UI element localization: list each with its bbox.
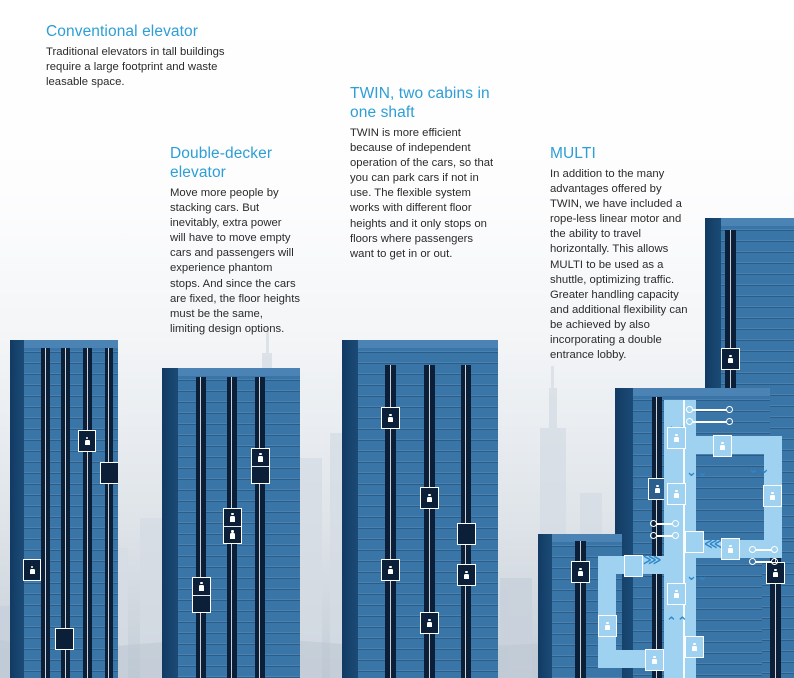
passenger-icon bbox=[770, 492, 775, 501]
multi-cabin-occupied[interactable] bbox=[667, 427, 686, 449]
passenger-icon bbox=[605, 622, 610, 631]
multi-cabin-occupied[interactable] bbox=[685, 636, 704, 658]
passenger-icon bbox=[674, 590, 679, 599]
transfer-node[interactable] bbox=[672, 520, 679, 527]
node-link bbox=[692, 409, 727, 411]
multi-cabin-empty[interactable] bbox=[624, 555, 643, 577]
chevron-down-icon: ⌄⌄ bbox=[748, 465, 770, 475]
transfer-node[interactable] bbox=[726, 418, 733, 425]
infographic-canvas: Conventional elevator Traditional elevat… bbox=[0, 0, 794, 678]
chevron-down-icon: ⌄⌄ bbox=[686, 572, 708, 582]
passenger-icon bbox=[652, 656, 657, 665]
passenger-icon bbox=[674, 490, 679, 499]
multi-cabin-occupied[interactable] bbox=[645, 649, 664, 671]
transfer-node[interactable] bbox=[771, 558, 778, 565]
multi-cabin-occupied[interactable] bbox=[598, 615, 617, 637]
chevron-up-icon: ⌃⌃ bbox=[666, 618, 688, 628]
passenger-icon bbox=[674, 434, 679, 443]
chevron-right-icon: ⋙ bbox=[643, 556, 662, 566]
node-link bbox=[656, 523, 673, 525]
passenger-icon bbox=[728, 545, 733, 554]
multi-cabin-occupied[interactable] bbox=[721, 538, 740, 560]
multi-cabin-occupied[interactable] bbox=[713, 435, 732, 457]
transfer-node[interactable] bbox=[672, 532, 679, 539]
node-link bbox=[755, 549, 772, 551]
passenger-icon bbox=[692, 643, 697, 652]
multi-cabin-occupied[interactable] bbox=[667, 583, 686, 605]
node-link bbox=[656, 535, 673, 537]
multi-cabin-occupied[interactable] bbox=[763, 485, 782, 507]
chevron-down-icon: ⌄⌄ bbox=[686, 468, 708, 478]
node-link bbox=[755, 561, 772, 563]
passenger-icon bbox=[720, 442, 725, 451]
transfer-node[interactable] bbox=[726, 406, 733, 413]
multi-track-network: ⌃⌃ ⌃⌃ ⌃⌃ ⌄⌄ ⌄⌄ ⌄⌄ ⋘ ⌃⌃ ⋙ bbox=[0, 0, 794, 678]
transfer-node[interactable] bbox=[771, 546, 778, 553]
node-link bbox=[692, 421, 727, 423]
multi-cabin-occupied[interactable] bbox=[667, 483, 686, 505]
multi-cabin-empty[interactable] bbox=[685, 531, 704, 553]
chevron-left-icon: ⋘ bbox=[704, 540, 723, 550]
